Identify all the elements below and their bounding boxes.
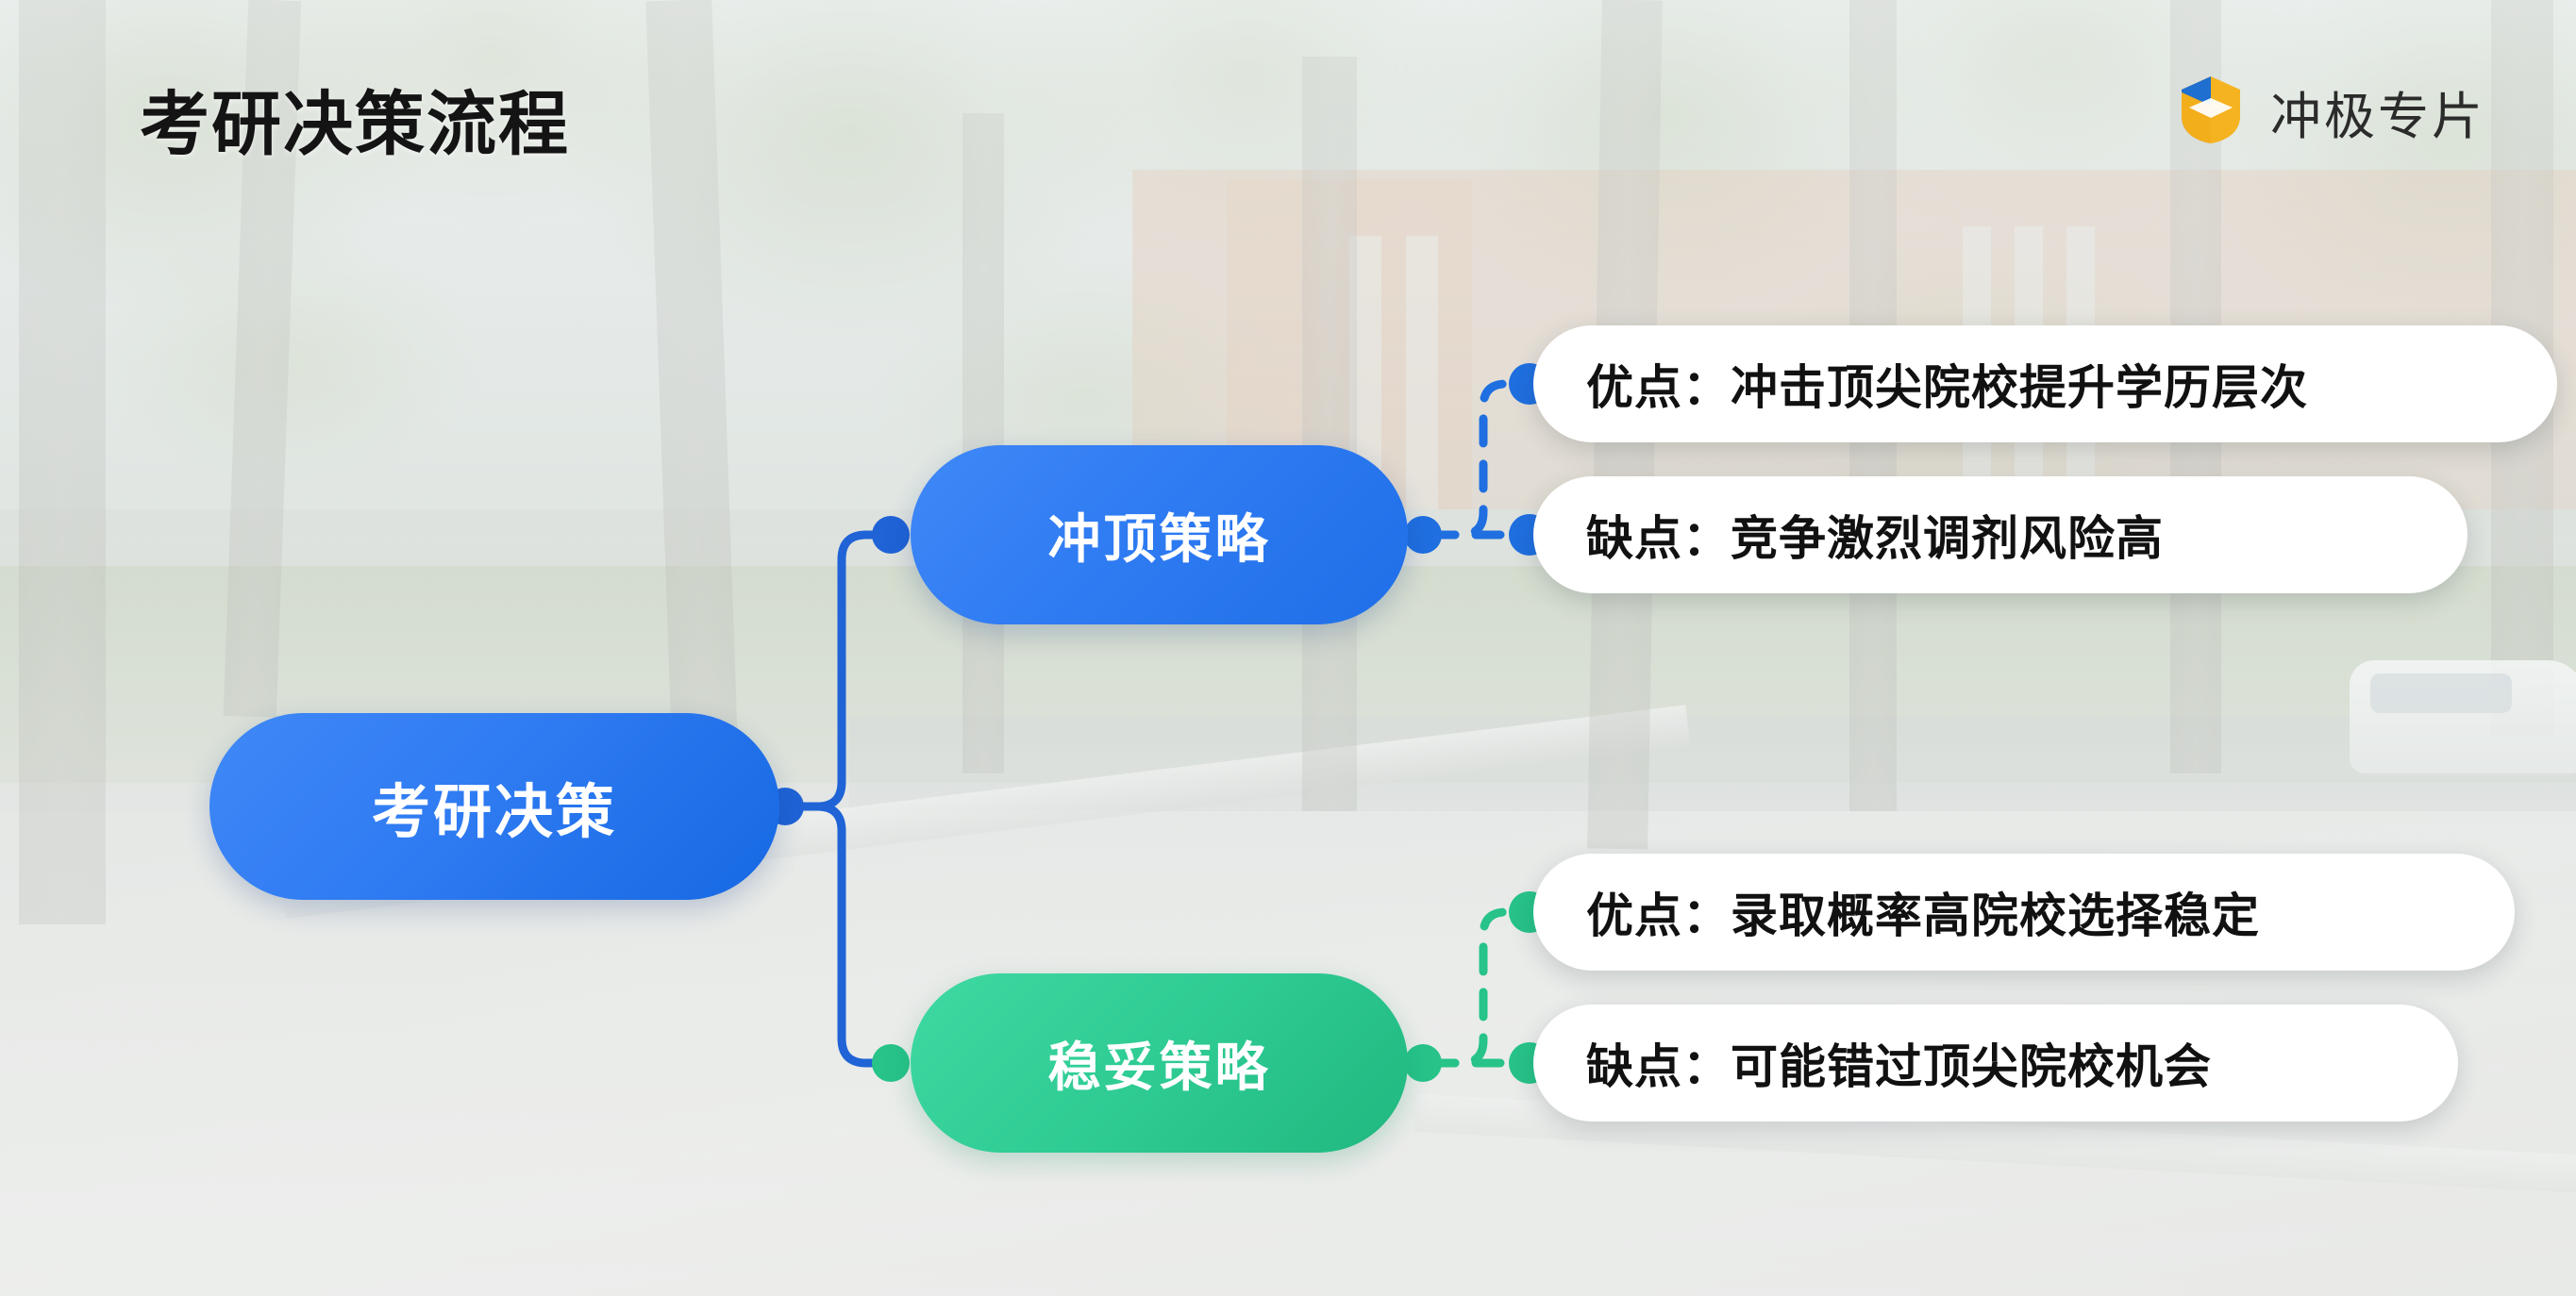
node-root[interactable]: 考研决策 [209,713,779,900]
leaf-card-charge-pro[interactable]: 优点：冲击顶尖院校提升学历层次 [1533,325,2557,442]
leaf-card-steady-pro[interactable]: 优点：录取概率高院校选择稳定 [1533,854,2515,971]
leaf-card-label: 优点：录取概率高院校选择稳定 [1586,878,2260,946]
shield-logo-icon [2176,74,2246,150]
node-branch-charge-label: 冲顶策略 [1048,497,1271,573]
leaf-card-charge-con[interactable]: 缺点：竞争激烈调剂风险高 [1533,476,2467,593]
node-root-label: 考研决策 [372,764,617,849]
brand-logo: 冲极专片 [2176,74,2485,150]
leaf-card-label: 缺点：竞争激烈调剂风险高 [1586,501,2164,569]
leaf-card-label: 缺点：可能错过顶尖院校机会 [1586,1029,2212,1097]
brand-name: 冲极专片 [2270,75,2485,149]
node-branch-charge[interactable]: 冲顶策略 [911,445,1408,624]
node-branch-steady[interactable]: 稳妥策略 [911,973,1408,1153]
node-branch-steady-label: 稳妥策略 [1048,1025,1271,1102]
page-title: 考研决策流程 [140,68,570,169]
leaf-card-label: 优点：冲击顶尖院校提升学历层次 [1586,350,2308,418]
leaf-card-steady-con[interactable]: 缺点：可能错过顶尖院校机会 [1533,1005,2458,1122]
slide-canvas: 考研决策流程 冲极专片 [0,0,2576,1296]
